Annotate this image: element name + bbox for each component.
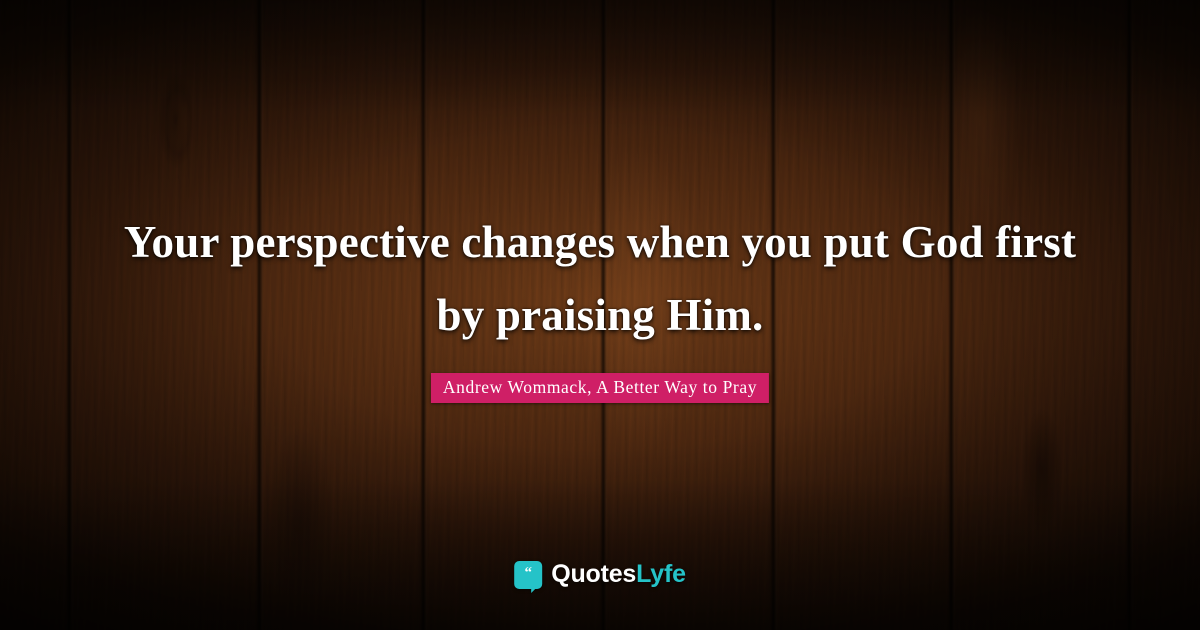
- brand-name: QuotesLyfe: [551, 560, 686, 589]
- quote-text: Your perspective changes when you put Go…: [95, 206, 1105, 352]
- quote-mark-icon: “: [514, 561, 542, 589]
- attribution: Andrew Wommack, A Better Way to Pray: [431, 373, 769, 403]
- quote-mark-glyph: “: [524, 566, 532, 581]
- card-content: Your perspective changes when you put Go…: [0, 0, 1200, 630]
- speech-bubble-tail-icon: [531, 586, 538, 593]
- attribution-label: Andrew Wommack, A Better Way to Pray: [431, 373, 769, 403]
- quoteslyfe-logo[interactable]: “ QuotesLyfe: [514, 560, 686, 589]
- quote-card: Your perspective changes when you put Go…: [0, 0, 1200, 630]
- brand-name-part1: Quotes: [551, 560, 636, 588]
- brand-name-part2: Lyfe: [636, 560, 686, 588]
